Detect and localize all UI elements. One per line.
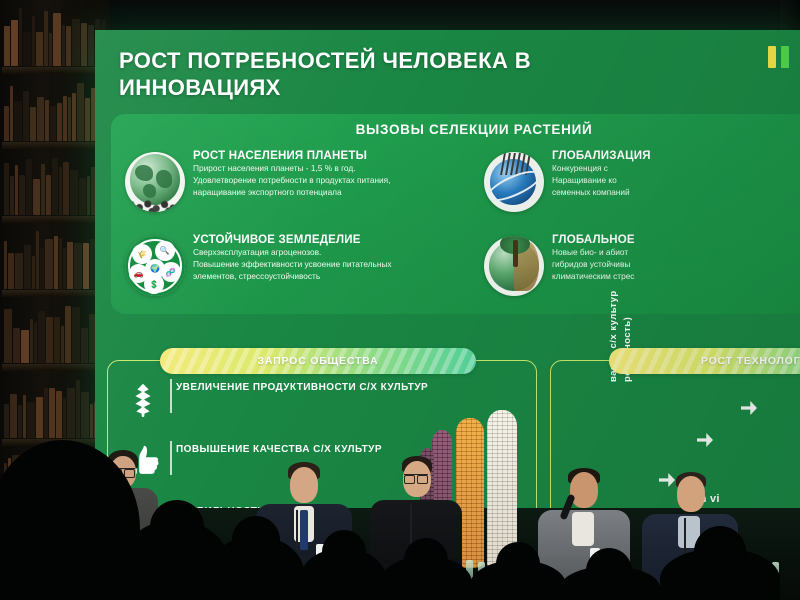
challenges-column-right: ГЛОБАЛИЗАЦИЯ Конкуренция с Наращивание к… xyxy=(478,150,800,318)
brand-bar-yellow xyxy=(768,46,776,68)
challenge-body: Прирост населения планеты - 1,5 % в год.… xyxy=(193,163,474,198)
challenge-body: Новые био- и абиот гибридов устойчивы кл… xyxy=(552,247,800,282)
audience-head xyxy=(496,542,540,586)
challenge-item: 🌾 🔍 🚗 🌍 🧬 💲 УСТОЙЧИВОЕ ЗЕМЛЕДЕЛИЕ Сверхэ… xyxy=(119,234,474,306)
panelist-head xyxy=(677,476,705,512)
page-title: РОСТ ПОТРЕБНОСТЕЙ ЧЕЛОВЕКА В ИННОВАЦИЯХ xyxy=(119,48,679,102)
challenge-item: РОСТ НАСЕЛЕНИЯ ПЛАНЕТЫ Прирост населения… xyxy=(119,150,474,222)
audience-head xyxy=(322,530,366,574)
brand-bar-green xyxy=(781,46,789,68)
panelist-head xyxy=(570,472,598,508)
conference-room: РОСТ ПОТРЕБНОСТЕЙ ЧЕЛОВЕКА В ИННОВАЦИЯХ … xyxy=(0,0,800,600)
society-demand-ribbon: ЗАПРОС ОБЩЕСТВА xyxy=(160,348,476,374)
challenge-title: РОСТ НАСЕЛЕНИЯ ПЛАНЕТЫ xyxy=(193,150,474,162)
challenge-body: Сверхэксплуатация агроценозов. Повышение… xyxy=(193,247,474,282)
challenge-title: ГЛОБАЛЬНОЕ xyxy=(552,234,800,246)
challenge-item: ГЛОБАЛЬНОЕ Новые био- и абиот гибридов у… xyxy=(478,234,800,306)
audience-head xyxy=(404,538,448,582)
globe-people-icon xyxy=(125,152,185,212)
challenges-column-left: РОСТ НАСЕЛЕНИЯ ПЛАНЕТЫ Прирост населения… xyxy=(119,150,474,318)
globe-tree-icon xyxy=(484,236,544,296)
audience-head xyxy=(586,548,632,594)
brand-logo xyxy=(768,46,789,68)
audience-head xyxy=(150,500,204,554)
wheat-ear-icon xyxy=(124,379,162,419)
audience-head xyxy=(694,526,746,578)
glasses-icon xyxy=(404,474,428,481)
challenges-card: ВЫЗОВЫ СЕЛЕКЦИИ РАСТЕНИЙ РОСТ НАСЕЛЕНИЯ … xyxy=(111,114,800,314)
challenge-title: УСТОЙЧИВОЕ ЗЕМЛЕДЕЛИЕ xyxy=(193,234,474,246)
challenge-body: Конкуренция с Наращивание ко семенных ко… xyxy=(552,163,800,198)
panelist-head xyxy=(290,467,318,503)
challenge-item: ГЛОБАЛИЗАЦИЯ Конкуренция с Наращивание к… xyxy=(478,150,800,222)
agriculture-wheel-icon: 🌾 🔍 🚗 🌍 🧬 💲 xyxy=(125,236,185,296)
audience-head xyxy=(232,516,280,564)
leaf-arrow-icon xyxy=(697,433,713,447)
challenge-title: ГЛОБАЛИЗАЦИЯ xyxy=(552,150,800,162)
leaf-arrow-icon xyxy=(741,401,757,415)
technology-growth-ribbon: РОСТ ТЕХНОЛОГИЙ xyxy=(609,348,800,374)
list-item-label: УВЕЛИЧЕНИЕ ПРОДУКТИВНОСТИ С/Х КУЛЬТУР xyxy=(176,377,530,396)
globe-network-icon xyxy=(484,152,544,212)
challenges-heading: ВЫЗОВЫ СЕЛЕКЦИИ РАСТЕНИЙ xyxy=(111,122,800,137)
